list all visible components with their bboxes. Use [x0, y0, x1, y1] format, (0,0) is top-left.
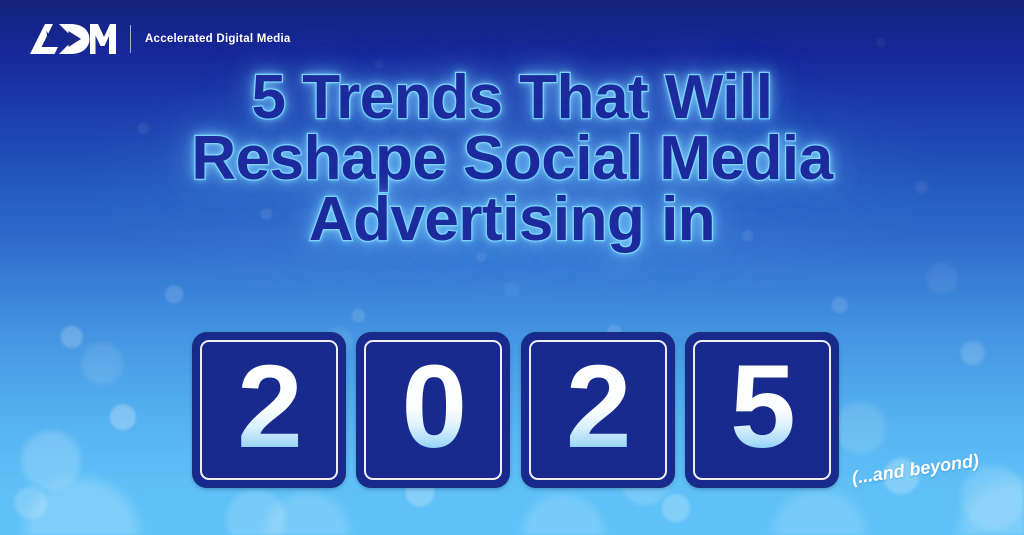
year-tile-2: 0 [357, 333, 509, 487]
year-tile-4: 5 [686, 333, 838, 487]
and-beyond-footnote: (...and beyond) [851, 450, 981, 489]
year-digit: 5 [730, 348, 794, 466]
year-digit: 2 [566, 348, 630, 466]
year-tile-group: 2 0 2 5 [193, 333, 838, 487]
page-title: 5 Trends That Will Reshape Social Media … [0, 68, 1024, 250]
promo-banner: Accelerated Digital Media 5 Trends That … [0, 0, 1024, 535]
brand-logo-lockup[interactable]: Accelerated Digital Media [28, 22, 291, 56]
headline-line-1: 5 Trends That Will [0, 68, 1024, 129]
year-digit: 0 [402, 348, 466, 466]
adm-logo-icon [28, 22, 116, 56]
logo-tagline: Accelerated Digital Media [145, 33, 291, 45]
vertical-divider-icon [130, 25, 131, 53]
headline-line-2: Reshape Social Media [0, 129, 1024, 190]
year-tile-3: 2 [522, 333, 674, 487]
year-digit: 2 [237, 348, 301, 466]
year-tile-1: 2 [193, 333, 345, 487]
headline-line-3: Advertising in [0, 190, 1024, 251]
